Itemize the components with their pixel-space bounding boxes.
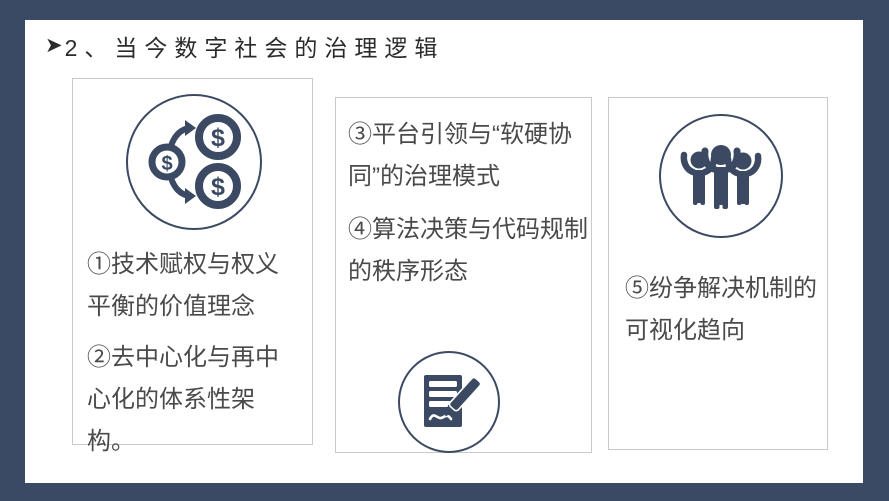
page-title-label: 2、当今数字社会的治理逻辑 xyxy=(65,29,445,63)
page-title: ➤ 2、当今数字社会的治理逻辑 xyxy=(45,26,444,66)
svg-text:$: $ xyxy=(211,173,225,201)
card-1-body: $ $ $ ①技术赋权与权义平衡的 xyxy=(73,79,312,444)
card-dispute-resolution[interactable]: ⑤纷争解决机制的可视化趋向 xyxy=(608,97,828,450)
arrow-right-icon: ➤ xyxy=(45,35,63,56)
teamwork-people-icon-glyph xyxy=(675,130,767,222)
card-3-paragraph-1: ⑤纷争解决机制的可视化趋向 xyxy=(625,268,825,352)
card-platform-governance[interactable]: ③平台引领与“软硬协同”的治理模式 ④算法决策与代码规制的秩序形态 xyxy=(335,97,592,453)
money-exchange-icon: $ $ $ xyxy=(126,94,262,230)
slide-canvas: ➤ 2、当今数字社会的治理逻辑 $ $ $ xyxy=(25,20,863,483)
teamwork-people-icon xyxy=(659,114,783,238)
card-2-paragraph-2: ④算法决策与代码规制的秩序形态 xyxy=(348,209,588,293)
card-technology-empowerment[interactable]: $ $ $ ①技术赋权与权义平衡的 xyxy=(72,78,313,445)
slide-frame: ➤ 2、当今数字社会的治理逻辑 $ $ $ xyxy=(0,0,889,501)
document-signature-icon xyxy=(398,351,500,453)
card-1-paragraph-1: ①技术赋权与权义平衡的价值理念 xyxy=(87,244,302,328)
card-2-body: ③平台引领与“软硬协同”的治理模式 ④算法决策与代码规制的秩序形态 xyxy=(336,98,591,452)
svg-text:$: $ xyxy=(211,124,225,152)
svg-text:$: $ xyxy=(161,153,172,175)
card-3-body: ⑤纷争解决机制的可视化趋向 xyxy=(609,98,827,449)
document-signature-icon-glyph xyxy=(416,369,482,435)
money-exchange-icon-glyph: $ $ $ xyxy=(142,110,246,214)
card-2-paragraph-1: ③平台引领与“软硬协同”的治理模式 xyxy=(348,114,588,198)
card-1-paragraph-2: ②去中心化与再中心化的体系性架构。 xyxy=(87,337,302,463)
